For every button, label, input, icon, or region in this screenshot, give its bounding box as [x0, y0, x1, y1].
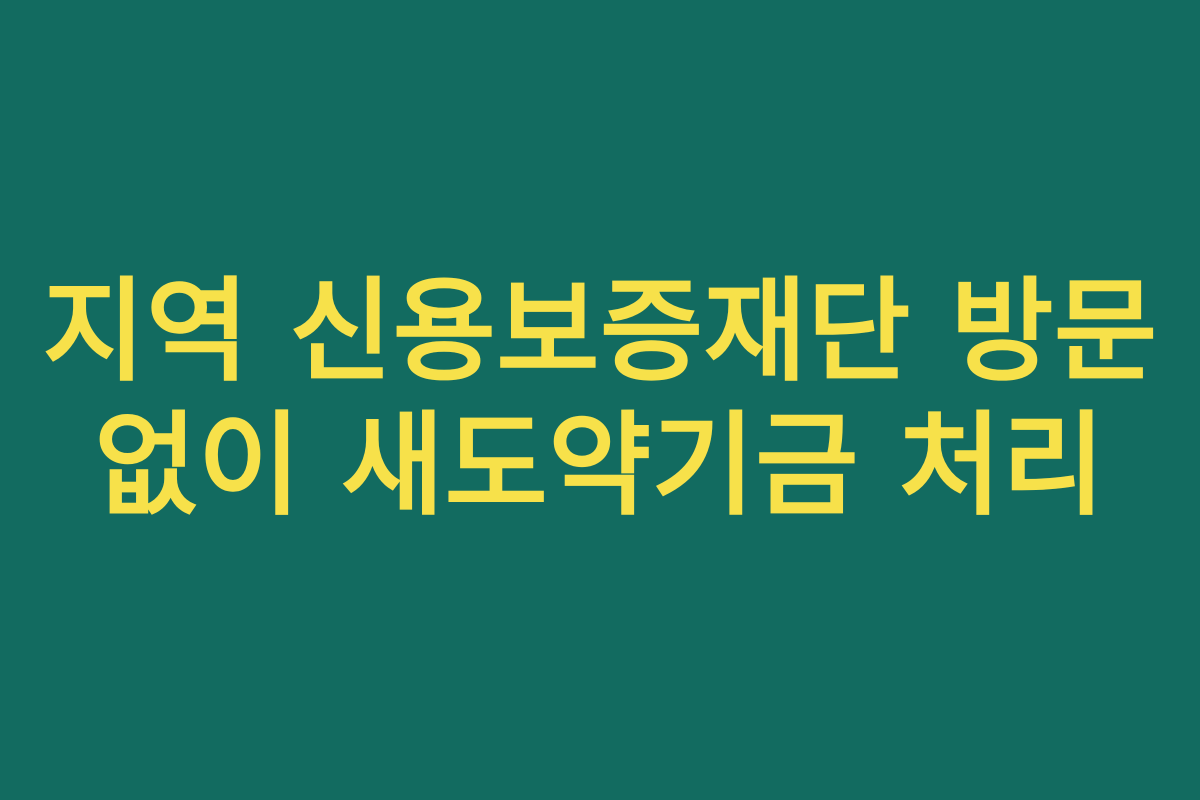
- headline-line-2: 없이 새도약기금 처리: [40, 402, 1160, 532]
- headline-line-1: 지역 신용보증재단 방문: [40, 268, 1160, 398]
- banner-canvas: 지역 신용보증재단 방문 없이 새도약기금 처리: [0, 0, 1200, 800]
- headline-block: 지역 신용보증재단 방문 없이 새도약기금 처리: [0, 268, 1200, 532]
